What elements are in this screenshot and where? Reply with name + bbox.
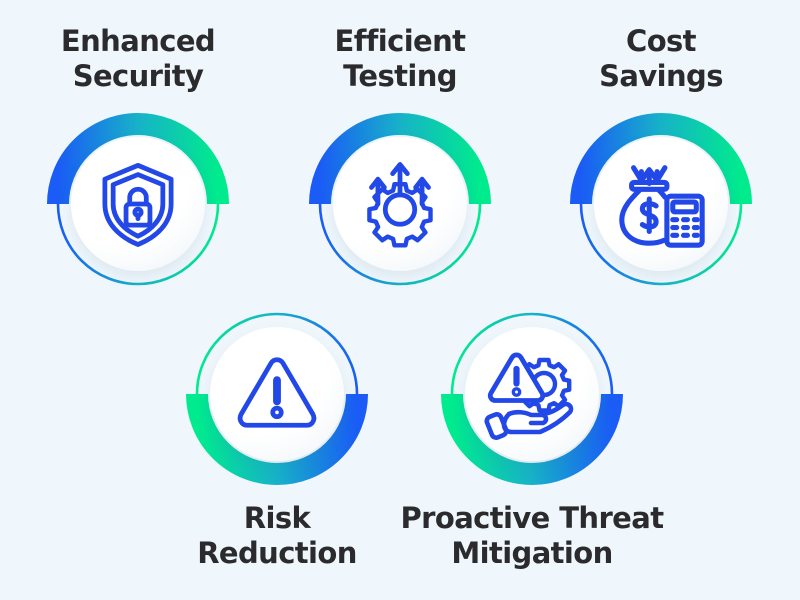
gear-arrows-up-icon [333, 137, 467, 271]
benefit-label-proactive-threat-mitigation: Proactive Threat Mitigation [382, 501, 682, 572]
shield-lock-icon [71, 137, 205, 271]
benefit-badge-cost-savings [570, 113, 752, 295]
benefit-card-risk-reduction[interactable]: Risk Reduction [157, 303, 397, 572]
benefit-card-efficient-testing[interactable]: Efficient Testing [280, 24, 520, 295]
hand-warning-gear-icon [465, 327, 599, 461]
benefit-card-proactive-threat-mitigation[interactable]: Proactive Threat Mitigation [412, 303, 652, 572]
benefit-label-enhanced-security: Enhanced Security [61, 24, 215, 95]
benefit-badge-efficient-testing [309, 113, 491, 295]
infographic-canvas: Enhanced Security [0, 0, 800, 600]
benefit-label-risk-reduction: Risk Reduction [197, 501, 357, 572]
benefit-badge-proactive-threat-mitigation [441, 303, 623, 485]
benefit-badge-enhanced-security [47, 113, 229, 295]
benefit-badge-risk-reduction [186, 303, 368, 485]
benefit-card-cost-savings[interactable]: Cost Savings [541, 24, 781, 295]
benefit-card-enhanced-security[interactable]: Enhanced Security [18, 24, 258, 295]
warning-triangle-icon [210, 327, 344, 461]
money-bag-calculator-icon [594, 137, 728, 271]
benefit-label-efficient-testing: Efficient Testing [335, 24, 466, 95]
benefit-label-cost-savings: Cost Savings [599, 24, 723, 95]
